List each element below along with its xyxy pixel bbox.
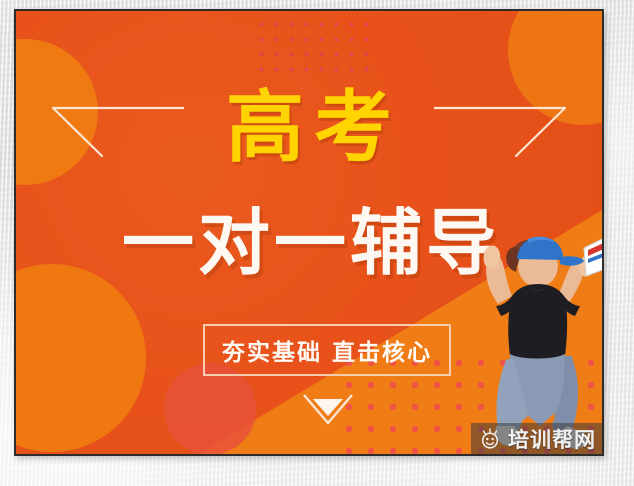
banner-tagline: 夯实基础 直击核心 <box>222 333 432 367</box>
watermark: 培训帮网 <box>471 423 602 454</box>
salmon-circle-decoration <box>164 363 256 454</box>
light-orange-circle-bottom-left <box>16 264 146 452</box>
book-icon <box>584 236 602 276</box>
dot-grid-top-icon <box>252 15 380 77</box>
headline-row: 高考 <box>16 89 602 167</box>
banner-headline: 高考 <box>216 89 402 167</box>
tagline-box: 夯实基础 直击核心 <box>203 324 451 376</box>
chevron-down-icon[interactable] <box>302 393 354 427</box>
watermark-text: 培训帮网 <box>508 424 596 454</box>
tshirt <box>508 284 567 361</box>
banner-canvas: 高考 一对一辅导 夯实基础 直击核心 <box>16 11 602 454</box>
jumping-student-illustration <box>468 226 602 454</box>
banner-subheadline: 一对一辅导 <box>116 207 502 279</box>
cap-icon <box>517 237 563 260</box>
sun-smiley-icon <box>479 428 501 450</box>
promo-banner[interactable]: 高考 一对一辅导 夯实基础 直击核心 <box>14 9 604 456</box>
